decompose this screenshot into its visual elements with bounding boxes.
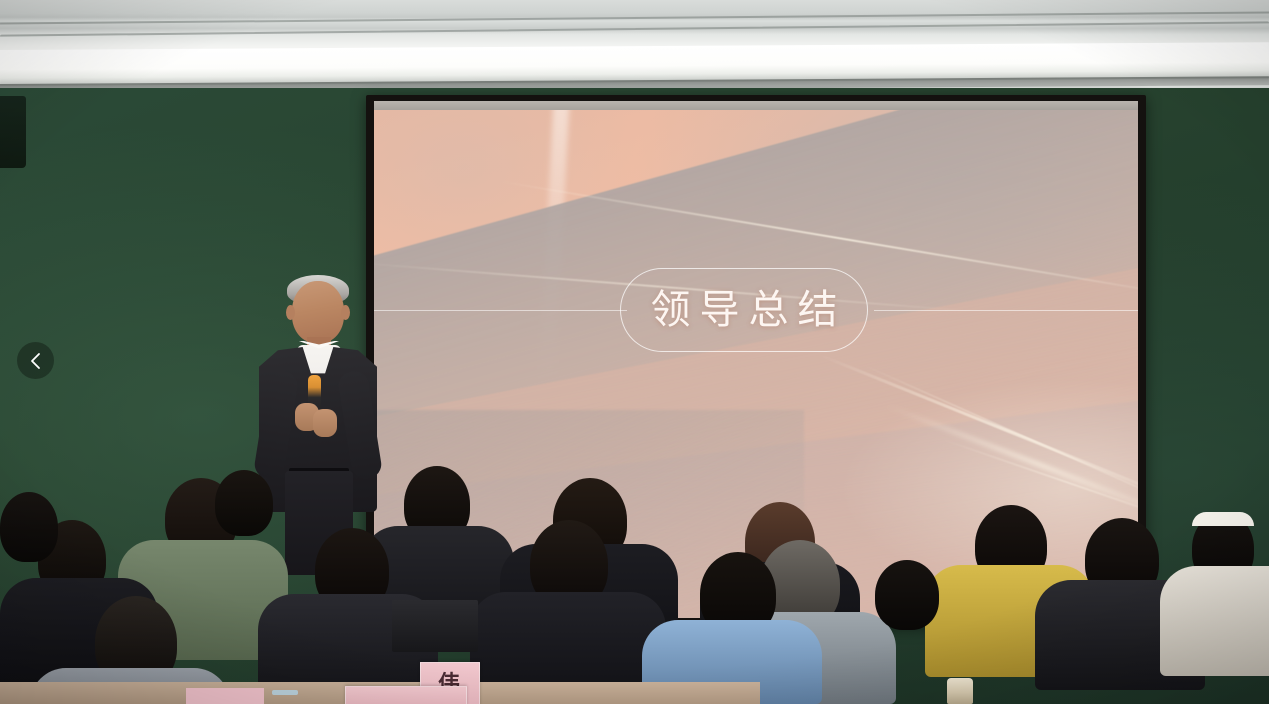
audience-head [0,492,58,562]
pen [272,690,298,695]
audience-head [215,470,273,536]
audience-head [875,560,939,630]
audience [0,0,1269,704]
name-placard [345,686,467,704]
prev-button[interactable] [17,342,54,379]
laptop [392,600,478,652]
paper-sheet [186,688,264,704]
presentation-photo: 领导总结 [0,0,1269,704]
audience-body [1160,566,1269,676]
chevron-left-icon [29,352,43,370]
thermos-bottle [947,678,973,704]
headband [1192,512,1254,526]
